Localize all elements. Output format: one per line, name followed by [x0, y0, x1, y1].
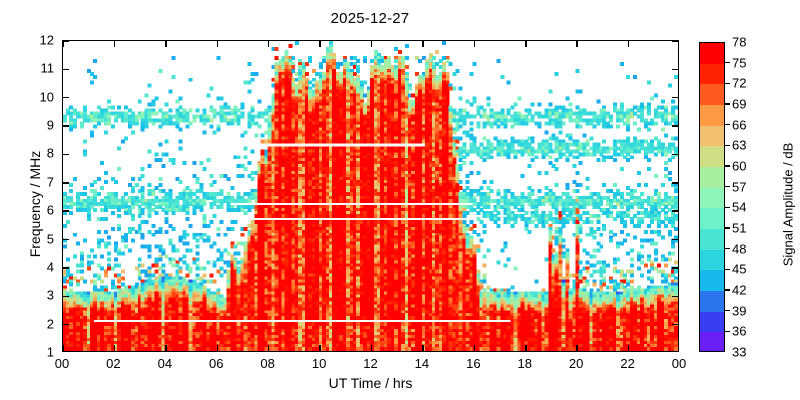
colorbar-tick-label: 45	[732, 262, 746, 277]
ionogram-figure: 2025-12-27 00020406081012141618202200 12…	[0, 0, 800, 400]
y-tick-label: 2	[10, 316, 54, 331]
y-tick	[63, 69, 69, 71]
colorbar-segment	[700, 312, 724, 333]
x-tick	[319, 345, 321, 351]
colorbar-tick	[725, 248, 730, 250]
colorbar	[699, 42, 725, 352]
y-tick	[63, 40, 69, 42]
x-tick	[165, 345, 167, 351]
x-tick	[422, 345, 424, 351]
y-tick	[672, 267, 678, 269]
x-tick-label: 04	[158, 356, 172, 371]
x-tick-label: 20	[569, 356, 583, 371]
y-tick	[63, 125, 69, 127]
y-tick-label: 1	[10, 345, 54, 360]
x-tick-label: 10	[312, 356, 326, 371]
colorbar-segment	[700, 208, 724, 229]
colorbar-tick	[725, 289, 730, 291]
y-tick	[672, 154, 678, 156]
y-tick	[63, 324, 69, 326]
x-tick	[371, 345, 373, 351]
colorbar-segment	[700, 250, 724, 271]
x-tick	[576, 41, 578, 47]
colorbar-tick	[725, 165, 730, 167]
y-tick	[672, 125, 678, 127]
colorbar-tick-label: 51	[732, 221, 746, 236]
x-tick-label: 18	[518, 356, 532, 371]
colorbar-title: Signal Amplitude / dB	[781, 105, 796, 305]
colorbar-tick-label: 72	[732, 76, 746, 91]
colorbar-tick-label: 66	[732, 117, 746, 132]
y-tick	[63, 182, 69, 184]
colorbar-tick	[725, 227, 730, 229]
page-title: 2025-12-27	[0, 10, 740, 27]
y-tick	[672, 239, 678, 241]
y-tick	[63, 97, 69, 99]
colorbar-tick	[725, 310, 730, 312]
colorbar-segment	[700, 43, 724, 64]
x-tick-label: 08	[260, 356, 274, 371]
x-tick	[268, 345, 270, 351]
x-tick	[319, 41, 321, 47]
colorbar-tick	[725, 103, 730, 105]
y-tick	[672, 182, 678, 184]
x-tick	[576, 345, 578, 351]
colorbar-segment	[700, 167, 724, 188]
colorbar-segment	[700, 332, 724, 352]
x-tick	[525, 41, 527, 47]
x-tick-label: 14	[415, 356, 429, 371]
colorbar-segment	[700, 270, 724, 291]
y-tick-label: 10	[10, 89, 54, 104]
colorbar-tick-label: 60	[732, 159, 746, 174]
colorbar-tick-label: 39	[732, 303, 746, 318]
x-tick	[114, 345, 116, 351]
y-axis-title: Frequency / MHz	[27, 114, 43, 294]
colorbar-segment	[700, 84, 724, 105]
x-tick	[165, 41, 167, 47]
x-tick	[474, 345, 476, 351]
colorbar-segment	[700, 126, 724, 147]
x-tick	[628, 345, 630, 351]
x-tick-label: 00	[55, 356, 69, 371]
x-tick	[268, 41, 270, 47]
colorbar-tick-label: 75	[732, 55, 746, 70]
colorbar-tick-label: 57	[732, 179, 746, 194]
colorbar-tick-label: 54	[732, 200, 746, 215]
x-tick-label: 00	[672, 356, 686, 371]
y-tick	[672, 210, 678, 212]
x-tick	[217, 345, 219, 351]
x-tick	[525, 345, 527, 351]
colorbar-tick-label: 63	[732, 138, 746, 153]
x-tick-label: 22	[620, 356, 634, 371]
colorbar-tick	[725, 331, 730, 333]
colorbar-segment	[700, 146, 724, 167]
x-tick	[371, 41, 373, 47]
x-tick-label: 02	[106, 356, 120, 371]
colorbar-tick	[725, 124, 730, 126]
x-tick	[217, 41, 219, 47]
y-tick	[63, 296, 69, 298]
y-tick	[63, 210, 69, 212]
y-tick	[672, 97, 678, 99]
colorbar-segment	[700, 229, 724, 250]
colorbar-tick-label: 36	[732, 324, 746, 339]
colorbar-segment	[700, 291, 724, 312]
y-tick	[672, 40, 678, 42]
colorbar-tick	[725, 145, 730, 147]
x-tick-label: 16	[466, 356, 480, 371]
colorbar-tick	[725, 83, 730, 85]
colorbar-tick	[725, 269, 730, 271]
x-tick	[114, 41, 116, 47]
colorbar-tick	[725, 62, 730, 64]
spectrogram-image	[63, 41, 678, 351]
y-tick-label: 12	[10, 33, 54, 48]
x-tick-label: 12	[363, 356, 377, 371]
x-tick	[474, 41, 476, 47]
x-tick	[422, 41, 424, 47]
colorbar-segment	[700, 64, 724, 85]
colorbar-segment	[700, 188, 724, 209]
y-tick	[672, 69, 678, 71]
y-tick	[63, 267, 69, 269]
y-tick-label: 11	[10, 61, 54, 76]
x-tick	[62, 345, 64, 351]
colorbar-segment	[700, 105, 724, 126]
y-tick	[63, 154, 69, 156]
y-tick	[672, 296, 678, 298]
x-tick-label: 06	[209, 356, 223, 371]
colorbar-tick-label: 48	[732, 241, 746, 256]
y-tick	[63, 239, 69, 241]
x-tick	[628, 41, 630, 47]
colorbar-tick-label: 33	[732, 345, 746, 360]
colorbar-tick-label: 69	[732, 97, 746, 112]
spectrogram-plot-area[interactable]	[62, 40, 679, 352]
colorbar-tick-label: 42	[732, 283, 746, 298]
colorbar-tick	[725, 186, 730, 188]
colorbar-tick	[725, 207, 730, 209]
x-axis-title: UT Time / hrs	[62, 375, 679, 391]
y-tick	[672, 324, 678, 326]
colorbar-tick-label: 78	[732, 35, 746, 50]
x-tick	[62, 41, 64, 47]
